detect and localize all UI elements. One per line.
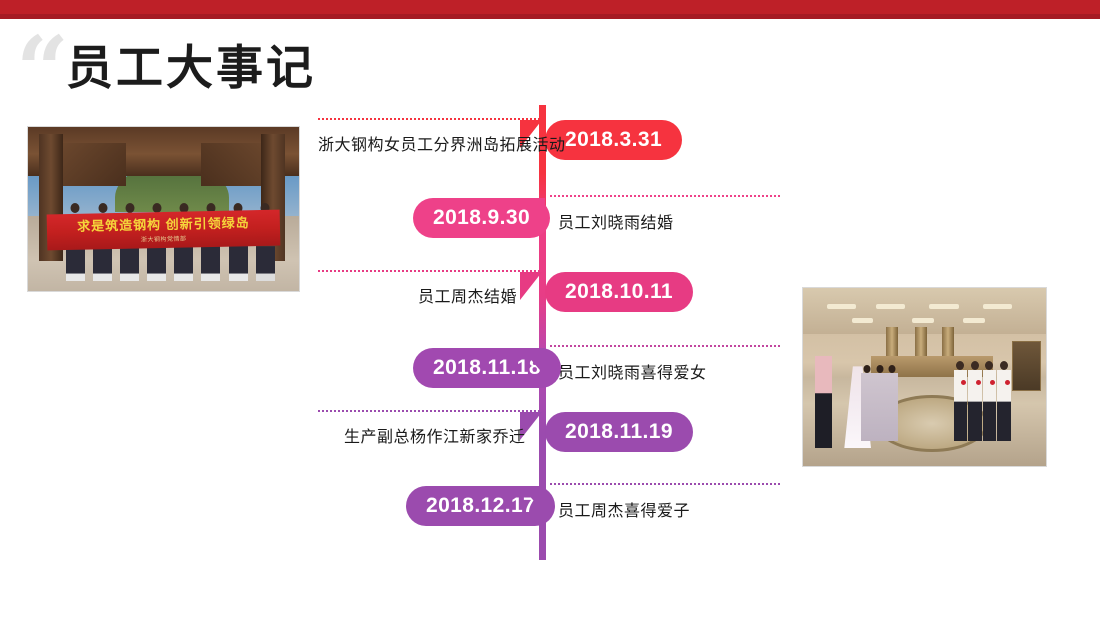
pill-tail [520, 272, 542, 300]
timeline-row: 2018.12.17 员工周杰喜得爱子 [0, 486, 1100, 532]
event-text: 员工刘晓雨结婚 [558, 209, 674, 233]
date-label: 2018.3.31 [565, 128, 662, 152]
dot-connector-6 [550, 483, 780, 485]
page-title: 员工大事记 [66, 29, 316, 98]
timeline-row: 2018.11.19 生产副总杨作江新家乔迁 [0, 412, 1100, 458]
timeline-row: 2018.11.18 员工刘晓雨喜得爱女 [0, 348, 1100, 394]
event-text: 员工周杰喜得爱子 [558, 497, 690, 521]
dot-connector-2 [550, 195, 780, 197]
date-label: 2018.9.30 [433, 206, 530, 230]
timeline-row: 2018.10.11 员工周杰结婚 [0, 272, 1100, 318]
quote-mark-icon: “ [16, 24, 67, 116]
dot-connector-4 [550, 345, 780, 347]
pill-tail [521, 486, 545, 514]
event-text: 生产副总杨作江新家乔迁 [344, 423, 526, 447]
top-accent-bar [0, 0, 1100, 19]
date-label: 2018.12.17 [426, 494, 535, 518]
event-text: 员工刘晓雨喜得爱女 [558, 359, 707, 383]
top-accent-bar-shadow [0, 14, 1100, 19]
date-label: 2018.11.19 [565, 420, 673, 444]
pill-tail [521, 348, 545, 376]
timeline-row: 2018.3.31 浙大钢构女员工分界洲岛拓展活动 [0, 120, 1100, 166]
slide-root: “ 员工大事记 求是筑造钢构 创新引领绿岛 浙大钢构党情部 [0, 0, 1100, 619]
timeline-row: 2018.9.30 员工刘晓雨结婚 [0, 198, 1100, 244]
date-pill[interactable]: 2018.11.19 [545, 412, 693, 452]
event-text: 浙大钢构女员工分界洲岛拓展活动 [318, 131, 566, 155]
date-label: 2018.10.11 [565, 280, 673, 304]
pill-tail [521, 198, 545, 226]
event-text: 员工周杰结婚 [418, 283, 517, 307]
date-pill[interactable]: 2018.10.11 [545, 272, 693, 312]
